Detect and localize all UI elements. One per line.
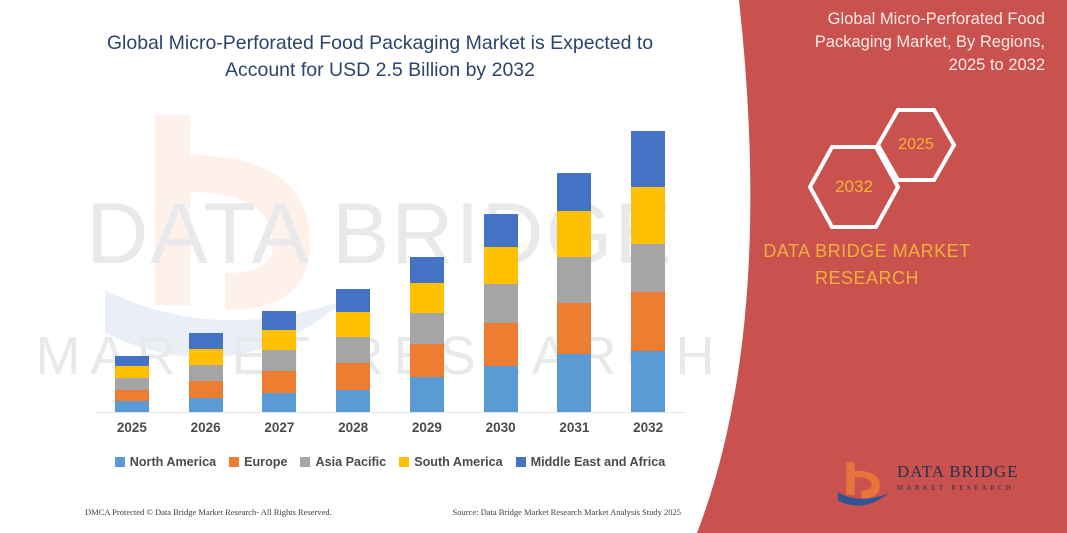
legend-item[interactable]: Europe [229,455,287,469]
side-panel-title: Global Micro-Perforated Food Packaging M… [783,8,1045,77]
x-axis-label-2032: 2032 [613,420,683,435]
data-bridge-logo-icon [837,458,893,508]
bar-segment [557,173,591,212]
bar-segment [631,244,665,292]
bar-column-2028 [336,289,370,413]
bar-segment [189,398,223,413]
bar-column-2026 [189,333,223,413]
bar-segment [410,283,444,313]
bar-segment [484,366,518,413]
bar-segment [336,363,370,390]
bar-segment [484,323,518,366]
bar-segment [484,214,518,247]
side-panel-logo: DATA BRIDGE MARKET RESEARCH [837,458,1042,510]
bar-segment [410,257,444,283]
bar-column-2029 [410,257,444,413]
bar-segment [115,356,149,367]
footer-source: Source: Data Bridge Market Research Mark… [452,507,685,517]
x-axis-label-2028: 2028 [318,420,388,435]
bar-segment [262,371,296,393]
legend-item[interactable]: North America [115,455,216,469]
x-axis-label-2025: 2025 [97,420,167,435]
chart-title: Global Micro-Perforated Food Packaging M… [80,30,680,84]
bar-segment [557,257,591,303]
chart-plot-area [95,120,685,413]
footer: DMCA Protected © Data Bridge Market Rese… [85,507,685,517]
bar-column-2032 [631,131,665,413]
legend-item[interactable]: Middle East and Africa [516,455,666,469]
bar-segment [189,333,223,348]
bar-segment [115,378,149,390]
legend-swatch-icon [229,457,239,467]
bar-segment [189,349,223,365]
bar-segment [631,131,665,187]
chart-x-axis: 20252026202720282029203020312032 [95,420,685,444]
bar-segment [262,393,296,413]
bar-segment [410,344,444,377]
bar-segment [115,366,149,378]
logo-subtitle: MARKET RESEARCH [897,482,1047,494]
bar-segment [336,337,370,363]
bar-column-2031 [557,173,591,413]
legend-label: Asia Pacific [315,455,386,469]
bar-segment [631,187,665,244]
legend-swatch-icon [516,457,526,467]
bar-segment [557,303,591,355]
x-axis-label-2030: 2030 [466,420,536,435]
bar-segment [262,330,296,350]
bar-segment [262,350,296,371]
hexagon-badge-2025-label: 2025 [875,107,957,183]
bar-segment [189,365,223,381]
bar-segment [336,390,370,413]
bar-column-2030 [484,214,518,413]
chart-baseline [95,412,685,413]
bar-segment [410,313,444,343]
bar-segment [631,351,665,413]
bar-segment [262,311,296,330]
chart-legend: North AmericaEuropeAsia PacificSouth Ame… [95,455,685,469]
bar-segment [189,381,223,397]
bar-segment [631,292,665,351]
hexagon-badge-2025: 2025 [875,107,957,183]
x-axis-label-2026: 2026 [171,420,241,435]
x-axis-label-2031: 2031 [539,420,609,435]
legend-swatch-icon [115,457,125,467]
bar-segment [336,289,370,312]
x-axis-label-2027: 2027 [244,420,314,435]
bar-segment [557,211,591,257]
bar-segment [410,377,444,413]
legend-swatch-icon [399,457,409,467]
legend-item[interactable]: South America [399,455,502,469]
bar-column-2027 [262,311,296,413]
bar-segment [484,284,518,323]
legend-label: Middle East and Africa [531,455,666,469]
footer-copyright: DMCA Protected © Data Bridge Market Rese… [85,507,332,517]
bar-segment [336,312,370,337]
legend-label: Europe [244,455,287,469]
side-panel: Global Micro-Perforated Food Packaging M… [697,0,1067,533]
legend-item[interactable]: Asia Pacific [300,455,386,469]
bar-segment [557,354,591,413]
side-panel-brand-text: DATA BRIDGE MARKET RESEARCH [717,238,1017,292]
logo-title: DATA BRIDGE [897,462,1047,482]
bar-column-2025 [115,356,149,413]
legend-swatch-icon [300,457,310,467]
bar-segment [484,247,518,285]
legend-label: North America [130,455,216,469]
chart-panel: DATA BRIDGE MARKET RESEARCH Global Micro… [0,0,760,533]
bar-segment [115,390,149,402]
x-axis-label-2029: 2029 [392,420,462,435]
legend-label: South America [414,455,502,469]
